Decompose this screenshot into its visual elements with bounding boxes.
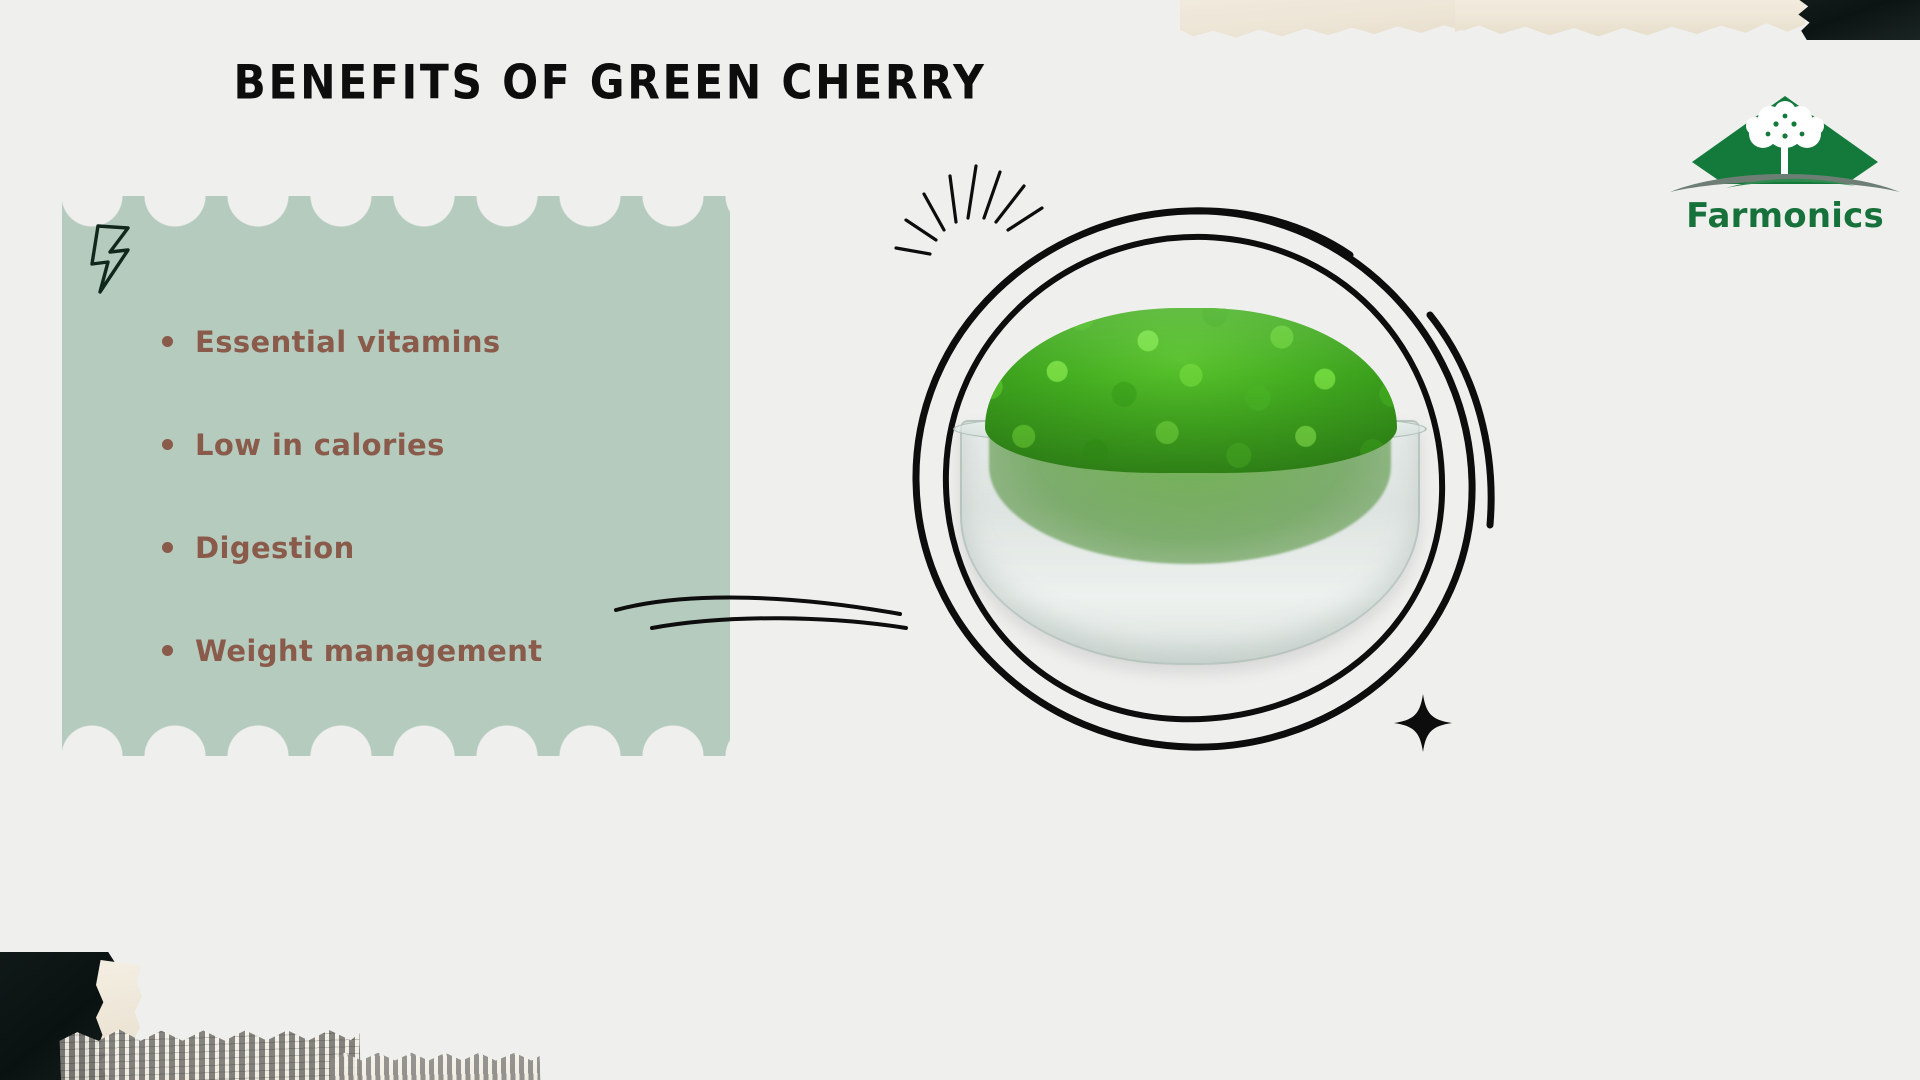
bullet-dot-icon: [162, 542, 173, 553]
bullet-dot-icon: [162, 336, 173, 347]
bullet-dot-icon: [162, 645, 173, 656]
benefit-label: Weight management: [195, 634, 543, 668]
page-title: BENEFITS OF GREEN CHERRY: [0, 56, 1257, 110]
lightning-bolt-doodle-icon: [88, 222, 142, 298]
benefits-list: Essential vitamins Low in calories Diges…: [162, 290, 702, 702]
benefit-label: Essential vitamins: [195, 325, 501, 359]
torn-paper-black-top-right: [1790, 0, 1920, 40]
product-image: [945, 300, 1435, 665]
torn-paper-newsprint-bottom-left: [59, 1013, 361, 1080]
list-item: Low in calories: [162, 393, 702, 496]
panel-scallop-bottom-edge: [62, 716, 730, 756]
torn-paper-cream-top: [1180, 0, 1510, 42]
torn-paper-cream-top-right: [1455, 0, 1805, 40]
torn-paper-cream-bottom-left: [96, 960, 142, 1056]
four-point-star-icon: [1392, 692, 1454, 754]
benefits-panel: Essential vitamins Low in calories Diges…: [62, 196, 730, 756]
brand-name: Farmonics: [1660, 196, 1910, 236]
underline-squiggle-icon: [610, 580, 920, 640]
benefit-label: Digestion: [195, 531, 355, 565]
tree-in-diamond-icon: [1660, 88, 1910, 198]
infographic-canvas: BENEFITS OF GREEN CHERRY Essential vitam…: [0, 0, 1920, 1080]
benefit-label: Low in calories: [195, 428, 445, 462]
torn-paper-newsprint-bottom: [329, 1039, 540, 1080]
torn-paper-black-bottom-left: [0, 952, 119, 1080]
brand-logo: Farmonics: [1660, 88, 1910, 238]
list-item: Essential vitamins: [162, 290, 702, 393]
panel-scallop-top-edge: [62, 196, 730, 236]
diced-green-cherries: [985, 308, 1397, 473]
bullet-dot-icon: [162, 439, 173, 450]
